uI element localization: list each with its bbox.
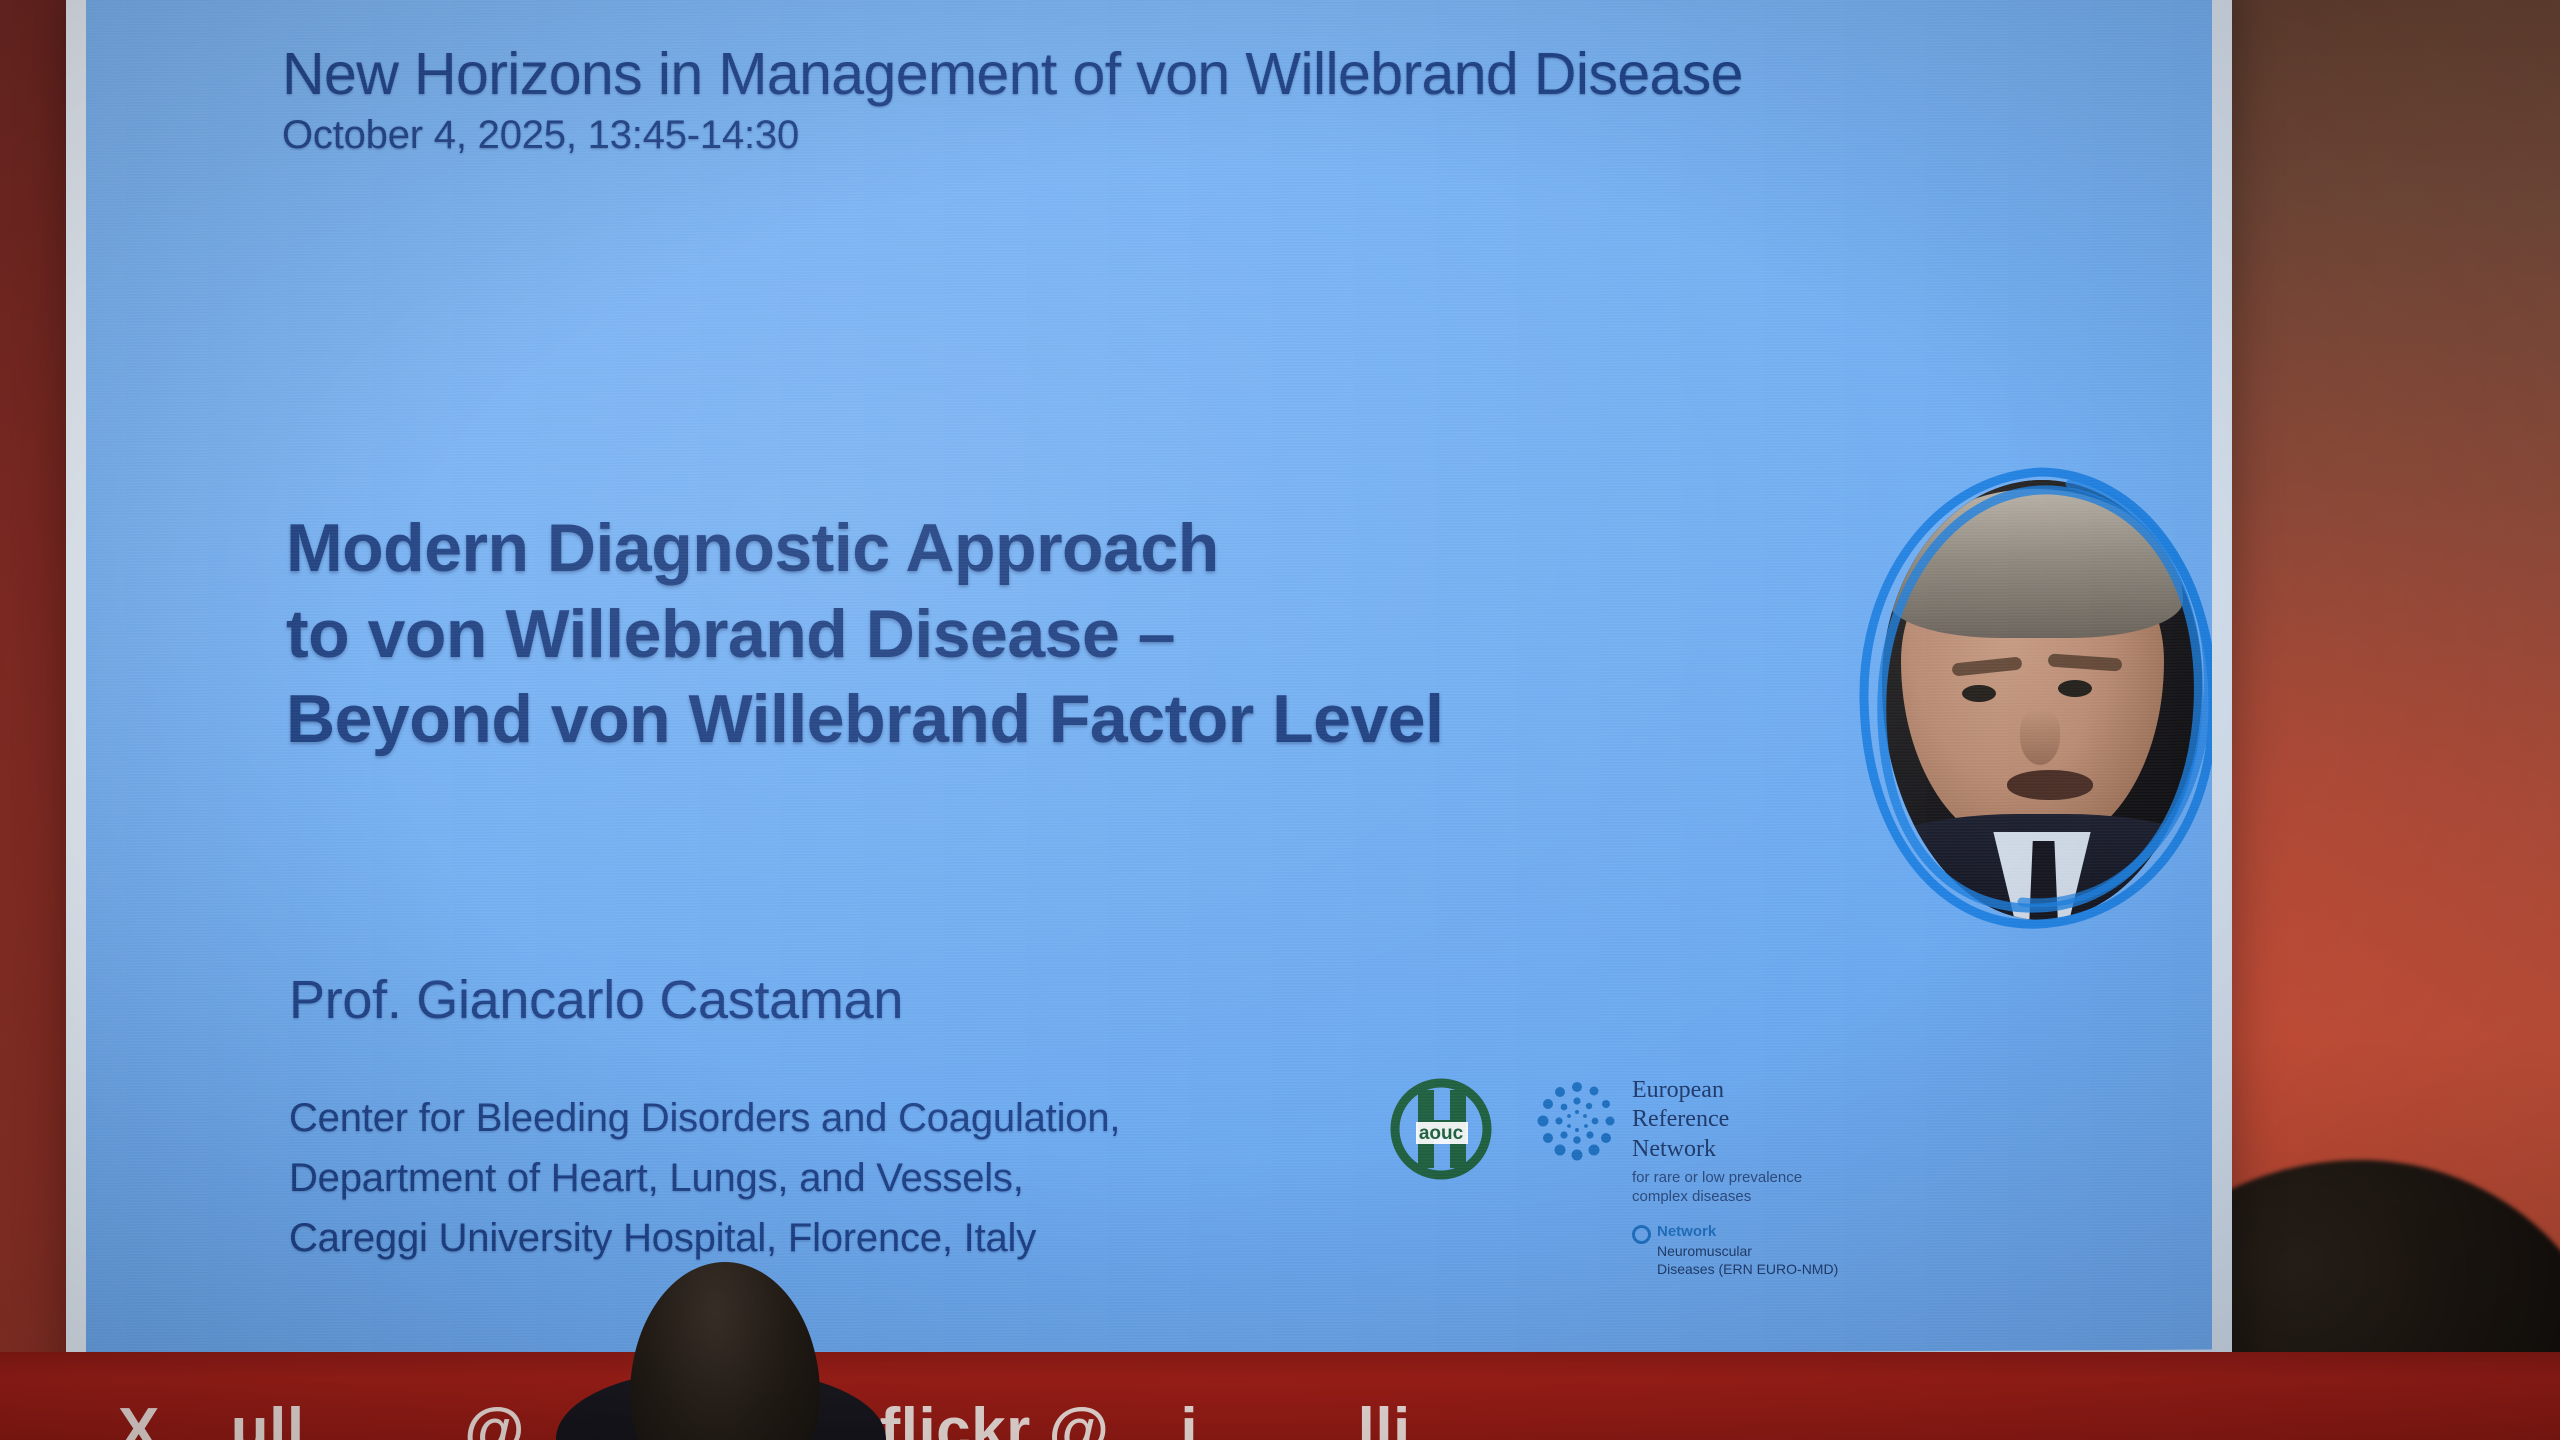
session-datetime: October 4, 2025, 13:45-14:30 xyxy=(282,110,1743,160)
slide-main-title: Modern Diagnostic Approach to von Willeb… xyxy=(286,506,1444,763)
affiliation-line-2: Department of Heart, Lungs, and Vessels, xyxy=(289,1148,1120,1208)
ern-network-label: Network xyxy=(1657,1223,1716,1240)
speaker-name: Prof. Giancarlo Castaman xyxy=(289,969,903,1031)
affiliation-line-1: Center for Bleeding Disorders and Coagul… xyxy=(289,1088,1120,1148)
aouc-logo-icon: aouc xyxy=(1388,1076,1494,1182)
bottom-red-banner: X .. ull.. .. .. @ .. i.. .. ...lli.. fl… xyxy=(0,1352,2560,1440)
ern-title-line-2: Reference xyxy=(1632,1105,1838,1134)
ern-subtitle-line-1: for rare or low prevalence xyxy=(1632,1169,1838,1188)
affiliation-line-3: Careggi University Hospital, Florence, I… xyxy=(289,1208,1120,1268)
screenshot-root: 15 October 4, 2025 New Horizons in Manag… xyxy=(0,0,2560,1440)
ern-subtitle-line-2: complex diseases xyxy=(1632,1188,1838,1207)
ern-network-dot-icon xyxy=(1632,1225,1651,1244)
slide-main-title-line-3: Beyond von Willebrand Factor Level xyxy=(286,677,1444,763)
speaker-portrait xyxy=(1838,450,2212,950)
ern-dots-icon xyxy=(1534,1078,1620,1164)
logo-row: aouc xyxy=(1388,1076,1838,1278)
speaker-portrait-photo xyxy=(1882,480,2202,920)
slide-main-title-line-1: Modern Diagnostic Approach xyxy=(286,506,1444,592)
speaker-affiliation: Center for Bleeding Disorders and Coagul… xyxy=(289,1088,1120,1268)
aouc-wordmark: aouc xyxy=(1419,1123,1464,1144)
ern-network-line-2: Diseases (ERN EURO-NMD) xyxy=(1657,1261,1838,1277)
session-header: New Horizons in Management of von Willeb… xyxy=(282,44,1743,160)
ern-network-line-1: Neuromuscular xyxy=(1657,1243,1752,1259)
presentation-slide: 15 October 4, 2025 New Horizons in Manag… xyxy=(86,0,2212,1362)
ern-logo: European Reference Network for rare or l… xyxy=(1534,1076,1838,1278)
session-title: New Horizons in Management of von Willeb… xyxy=(282,44,1743,104)
ern-network-block: Network Neuromuscular Diseases (ERN EURO… xyxy=(1632,1222,1838,1278)
ern-title-line-1: European xyxy=(1632,1076,1838,1105)
ern-title-line-3: Network xyxy=(1632,1135,1838,1164)
slide-main-title-line-2: to von Willebrand Disease – xyxy=(286,592,1444,678)
